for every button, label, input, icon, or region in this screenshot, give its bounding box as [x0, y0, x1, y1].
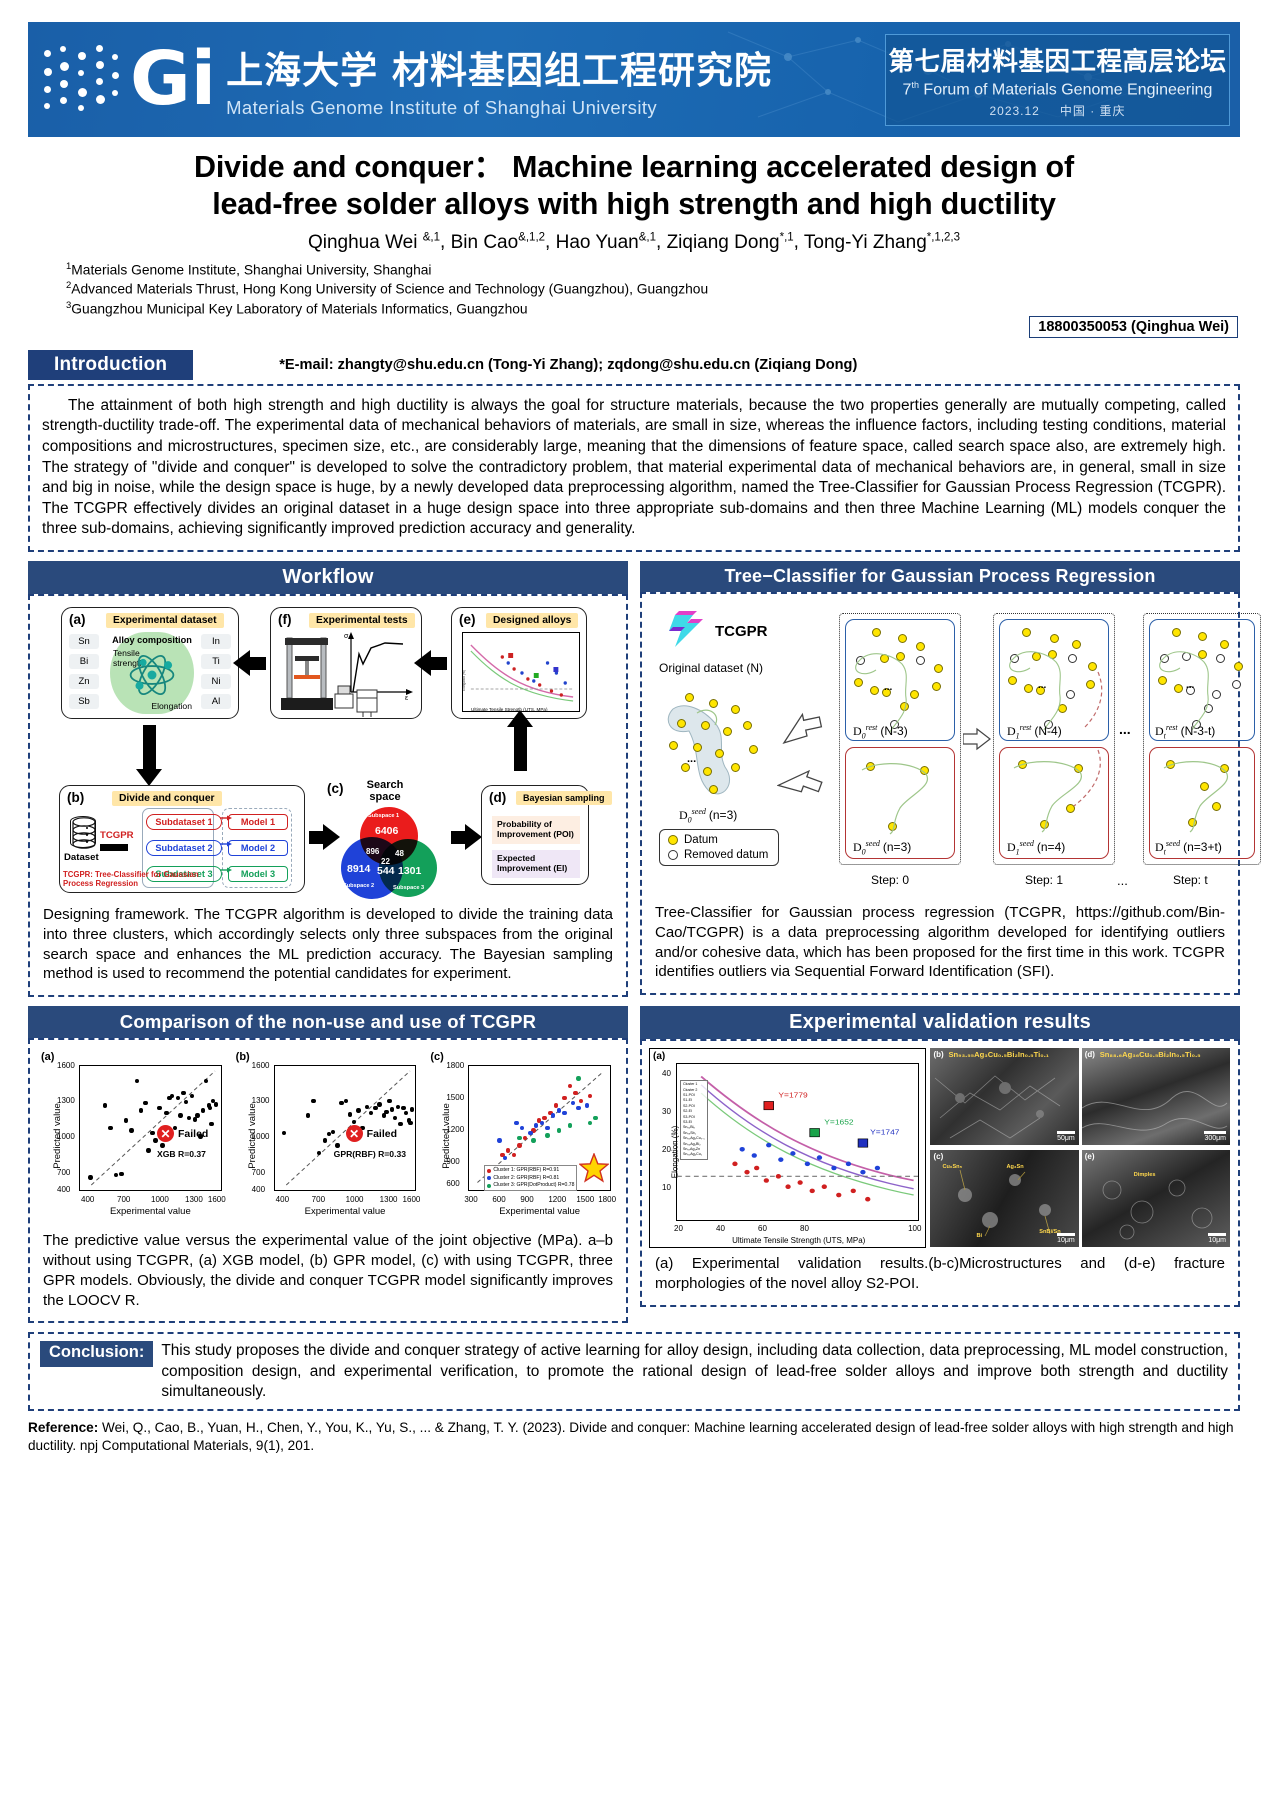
cloud-ellipsis: ... — [687, 753, 696, 765]
element-chip: Zn — [69, 674, 99, 689]
ellipsis: ... — [884, 682, 892, 693]
chart-b-xtick-3: 1300 — [380, 1195, 398, 1204]
chart-c-legend-0: Cluster 1: GPR(RBF) R=0.91 — [493, 1167, 559, 1174]
validation-a-xtick-0: 20 — [674, 1224, 683, 1233]
chart-c-ytick-1: 600 — [446, 1179, 459, 1188]
author-2: Hao Yuan&,1 — [556, 232, 656, 253]
step0-seed-label: D0seed (n=3) — [853, 839, 911, 856]
arrow-dataset-to-subdatasets — [100, 844, 128, 851]
subdataset-2: Subdataset 2 — [146, 840, 222, 856]
sem-e-scalebar: 10μm — [1208, 1233, 1226, 1244]
poster-root: Gi 上海大学 材料基因组工程研究院 Materials Genome Inst… — [0, 22, 1268, 1815]
sem-c-scalebar: 10μm — [1057, 1233, 1075, 1244]
reference-text: Wei, Q., Cao, B., Yuan, H., Chen, Y., Yo… — [28, 1420, 1234, 1453]
tcgpr-footnote: TCGPR: Tree-Classifier for Gaussian Proc… — [63, 871, 213, 889]
validation-a-legend: Cluster 1 Cluster 2 S1-POI S1-EI S2-POI … — [680, 1080, 708, 1159]
validation-a-ytick-2: 30 — [662, 1107, 671, 1116]
chart-c-xtick-2: 900 — [520, 1195, 533, 1204]
introduction-header-row: Introduction *E-mail: zhangty@shu.edu.cn… — [28, 350, 1240, 380]
f-xaxis-label: ε — [405, 695, 408, 700]
chart-a-status: Failed — [178, 1128, 208, 1140]
panel-f-tag: (f) — [278, 612, 292, 627]
section-bar-validation: Experimental validation results — [640, 1006, 1240, 1039]
tcgpr-logo-icon — [665, 609, 709, 653]
chart-c-ytick-top: 1800 — [446, 1061, 464, 1070]
phone-box: 18800350053 (Qinghua Wei) — [1029, 316, 1238, 338]
chart-a-xtick-2: 1000 — [151, 1195, 169, 1204]
chart-b: (b) 1600 1300 1000 700 400 Predicted val… — [234, 1051, 423, 1221]
element-chip: Al — [201, 694, 231, 709]
section-bar-comparison: Comparison of the non-use and use of TCG… — [28, 1006, 628, 1038]
panel-a-title: Experimental dataset — [106, 613, 224, 628]
stept-rest-label: Dtrest (N-3-t) — [1155, 723, 1215, 740]
tcgpr-figure-box: TCGPR Original dataset (N) — [640, 592, 1240, 995]
panel-c-tag: (c) — [327, 781, 344, 796]
venn-value-0: 6406 — [375, 825, 398, 837]
step1-seed-label: D1seed (n=4) — [1007, 839, 1065, 856]
chart-b-ytick-top: 1600 — [252, 1061, 270, 1070]
dataset-cylinder-icon — [70, 816, 96, 848]
legend-datum-label: Datum — [684, 834, 718, 846]
panel-f-title: Experimental tests — [309, 613, 415, 628]
chart-a-ytick-0: 400 — [57, 1185, 70, 1194]
validation-sem-grid: (b) Sn₉₃.₅₅Ag₃Cu₀.₅Bi₂In₀.₅Ti₀.₁ 5 — [930, 1048, 1231, 1248]
logo-dot-matrix — [42, 44, 128, 116]
step0-label: Step: 0 — [871, 873, 909, 887]
conclusion-text: This study proposes the divide and conqu… — [161, 1341, 1228, 1402]
chart-a-ylabel: Predicted value — [52, 1104, 63, 1169]
chart-c-ylabel: Predicted value — [442, 1104, 453, 1169]
chart-b-annotation: GPR(RBF) R=0.33 — [334, 1149, 406, 1159]
venn-label-0: Subspace 1 — [368, 813, 399, 819]
stept-seed-label: Dtseed (n=3+t) — [1155, 839, 1222, 856]
author-list: Qinghua Wei &,1, Bin Cao&,1,2, Hao Yuan&… — [28, 231, 1240, 253]
introduction-panel: The attainment of both high strength and… — [28, 384, 1240, 552]
arrow-d-to-e — [514, 727, 527, 771]
chart-c: (c) 1800 1500 1200 900 600 Predicted val… — [428, 1051, 617, 1221]
workflow-caption: Designing framework. The TCGPR algorithm… — [37, 899, 619, 988]
comparison-column: Comparison of the non-use and use of TCG… — [28, 1006, 628, 1323]
chart-c-ytick-4: 1500 — [446, 1093, 464, 1102]
author-3: Ziqiang Dong*,1 — [667, 232, 794, 253]
section-tag-introduction: Introduction — [28, 350, 193, 380]
author-0: Qinghua Wei &,1 — [308, 232, 440, 253]
element-chip: Sb — [69, 694, 99, 709]
chart-c-legend-2: Cluster 3: GPR(DotProduct) R=0.78 — [493, 1182, 574, 1189]
chart-b-ytick-1: 700 — [252, 1168, 265, 1177]
alloy-blob: Alloy composition Tensile strength Elong… — [110, 632, 194, 714]
conclusion-panel: Conclusion: This study proposes the divi… — [28, 1332, 1240, 1411]
arrow-f-to-a — [250, 657, 266, 670]
element-chip: Bi — [69, 654, 99, 669]
tcgpr-diagram: TCGPR Original dataset (N) — [649, 601, 1231, 897]
chart-a: (a) 1600 1300 1000 700 400 Predicted val… — [39, 1051, 228, 1221]
original-dataset-label: Original dataset (N) — [659, 661, 763, 675]
arrow-b-to-c — [309, 831, 323, 844]
legend-dot-cluster3 — [487, 1184, 491, 1188]
validation-anno-2: Y=1747 — [870, 1129, 899, 1137]
step0-rest-label: D0rest (N-3) — [853, 723, 908, 740]
chart-c-tag: (c) — [430, 1051, 443, 1063]
sem-panel-c: (c) Cu₆Sn₅ Ag₃Sn Bi SnBi/Sn 10 — [930, 1150, 1078, 1247]
chart-a-tag: (a) — [41, 1051, 54, 1063]
chart-c-xtick-3: 1200 — [548, 1195, 566, 1204]
validation-a-ytick-3: 40 — [662, 1069, 671, 1078]
workflow-panel-a: (a) Experimental dataset Sn Bi Zn Sb In … — [61, 607, 239, 719]
tcgpr-column: Tree−Classifier for Gaussian Process Reg… — [640, 561, 1240, 997]
chart-a-xtick-3: 1300 — [185, 1195, 203, 1204]
element-chip: In — [201, 634, 231, 649]
chart-c-xtick-5: 1800 — [598, 1195, 616, 1204]
chart-b-xlabel: Experimental value — [274, 1206, 417, 1217]
f-yaxis-label: σ — [344, 633, 349, 640]
arrow-step0-step1 — [963, 727, 991, 751]
venn-value-2: 1301 — [398, 865, 421, 877]
forum-meta: 2023.12中国 · 重庆 — [979, 102, 1135, 119]
sem-b-scalebar: 50μm — [1057, 1131, 1075, 1142]
legend-item: Sn₉₅Ag₃Cu₀.₅ — [683, 1136, 705, 1141]
panel-c-title: Search space — [355, 779, 415, 803]
validation-a-ytick-0: 10 — [662, 1183, 671, 1192]
venn-value-4: 48 — [395, 849, 404, 858]
author-1: Bin Cao&,1,2 — [451, 232, 545, 253]
logo-mark: Gi — [128, 46, 220, 113]
sem-e-marker-0: Dimples — [1134, 1172, 1156, 1178]
workflow-column: Workflow (a) Experimental dataset Sn Bi … — [28, 561, 628, 997]
chart-a-xtick-1: 700 — [117, 1195, 130, 1204]
poster-title: Divide and conquer： Machine learning acc… — [28, 149, 1240, 223]
legend-dot-cluster2 — [487, 1176, 491, 1180]
workflow-panel-d: (d) Bayesian sampling Probability of Imp… — [481, 785, 589, 885]
tcgpr-caption: Tree-Classifier for Gaussian process reg… — [649, 897, 1231, 986]
legend-item: Sn₉₅Ag₄Cu₁ — [683, 1152, 705, 1157]
model-2: Model 2 — [228, 840, 288, 856]
venn-value-6: 544 — [377, 865, 395, 877]
chart-b-ylabel: Predicted value — [247, 1104, 258, 1169]
panel-e-tag: (e) — [459, 612, 476, 627]
chart-a-failed-badge: ✕ Failed — [157, 1125, 208, 1142]
conclusion-tag: Conclusion: — [40, 1341, 153, 1367]
original-dataset-cloud: ... — [657, 679, 787, 809]
validation-figure-box: (a) Elongation (%) — [640, 1039, 1240, 1307]
comparison-charts: (a) 1600 1300 1000 700 400 Predicted val… — [37, 1047, 619, 1225]
element-chip: Sn — [69, 634, 99, 649]
comparison-figure-box: (a) 1600 1300 1000 700 400 Predicted val… — [28, 1038, 628, 1323]
lab-equipment-icon — [333, 684, 381, 718]
step1-label: Step: 1 — [1025, 873, 1063, 887]
email-line: *E-mail: zhangty@shu.edu.cn (Tong-Yi Zha… — [279, 357, 857, 373]
element-chip: Ti — [201, 654, 231, 669]
validation-chart-a: (a) Elongation (%) — [649, 1048, 926, 1248]
venn-label-1: Subspace 2 — [343, 883, 374, 889]
blob-label-right: Elongation — [151, 701, 192, 711]
validation-a-xlabel: Ultimate Tensile Strength (UTS, MPa) — [676, 1236, 921, 1245]
x-icon: ✕ — [157, 1125, 174, 1142]
validation-caption: (a) Experimental validation results.(b-c… — [649, 1248, 1231, 1298]
chart-c-xtick-4: 1500 — [576, 1195, 594, 1204]
title-line-1: Divide and conquer： Machine learning acc… — [28, 149, 1240, 186]
chart-b-xtick-1: 700 — [312, 1195, 325, 1204]
panel-e-miniplot: Elongation (%) Ultimate Tensile Strength… — [462, 632, 580, 712]
arrow-a-to-b — [143, 725, 156, 769]
affiliation-1: 1Materials Genome Institute, Shanghai Un… — [66, 260, 1240, 280]
panel-b-title: Divide and conquer — [112, 791, 222, 806]
ellipsis: ... — [1038, 680, 1046, 691]
comparison-caption: The predictive value versus the experime… — [37, 1225, 619, 1314]
tcgpr-legend: Datum Removed datum — [659, 829, 779, 866]
venn-diagram: 6406 8914 1301 896 48 22 544 Subspace 1 … — [341, 807, 437, 899]
chart-c-legend-1: Cluster 2: GPR(RBF) R=0.81 — [493, 1175, 559, 1182]
chart-b-xtick-2: 1000 — [346, 1195, 364, 1204]
contact-row: 18800350053 (Qinghua Wei) — [28, 320, 1240, 346]
panel-d-tag: (d) — [489, 790, 506, 805]
chart-c-xtick-0: 300 — [464, 1195, 477, 1204]
seed-init-label: D0seed (n=3) — [679, 807, 737, 824]
subdataset-model-arrows — [220, 810, 232, 886]
affiliation-2: 2Advanced Materials Thrust, Hong Kong Un… — [66, 279, 1240, 299]
bayesian-item-ei: Expected Improvement (EI) — [492, 850, 580, 878]
chart-c-xlabel: Experimental value — [468, 1206, 611, 1217]
arrow-e-to-f — [431, 657, 447, 670]
legend-datum-icon — [668, 835, 678, 845]
header-banner: Gi 上海大学 材料基因组工程研究院 Materials Genome Inst… — [28, 22, 1240, 137]
panel-e-title: Designed alloys — [486, 613, 578, 628]
chart-a-ytick-top: 1600 — [57, 1061, 75, 1070]
chart-b-xtick-4: 1600 — [403, 1195, 421, 1204]
chart-b-xtick-0: 400 — [276, 1195, 289, 1204]
chart-c-legend: Cluster 1: GPR(RBF) R=0.91 Cluster 2: GP… — [484, 1165, 577, 1191]
steps-ellipsis-bottom: ... — [1117, 873, 1128, 888]
tcgpr-logo-label: TCGPR — [715, 623, 768, 640]
reference-label: Reference: — [28, 1420, 98, 1435]
dataset-label: Dataset — [64, 852, 99, 863]
step1-rest-label: D1rest (N-4) — [1007, 723, 1062, 740]
atom-icon — [125, 650, 179, 700]
sem-c-marker-1: Ag₃Sn — [1006, 1164, 1023, 1170]
subdataset-1: Subdataset 1 — [146, 814, 222, 830]
forum-title-en: 7th Forum of Materials Genome Engineerin… — [903, 80, 1213, 99]
tensile-machine-icon — [279, 634, 341, 714]
validation-a-xtick-2: 60 — [758, 1224, 767, 1233]
element-chip: Ni — [201, 674, 231, 689]
venn-value-1: 8914 — [347, 863, 370, 875]
main-columns-top: Workflow (a) Experimental dataset Sn Bi … — [28, 561, 1240, 997]
legend-removed-label: Removed datum — [684, 849, 768, 861]
forum-badge: 第七届材料基因工程高层论坛 7th Forum of Materials Gen… — [885, 34, 1230, 126]
validation-a-xtick-4: 100 — [908, 1224, 921, 1233]
workflow-panel-e: (e) Designed alloys — [451, 607, 587, 719]
sem-panel-e: (e) Dimples 10μm — [1082, 1150, 1230, 1247]
chart-b-ytick-0: 400 — [252, 1185, 265, 1194]
sem-c-marker-0: Cu₆Sn₅ — [942, 1164, 962, 1170]
affiliation-list: 1Materials Genome Institute, Shanghai Un… — [66, 260, 1240, 319]
arrow-c-to-d — [451, 831, 465, 844]
model-1: Model 1 — [228, 814, 288, 830]
x-icon: ✕ — [346, 1125, 363, 1142]
sem-c-marker-2: Bi — [976, 1233, 982, 1239]
split-arrows — [777, 697, 833, 817]
panel-b-tag: (b) — [67, 790, 84, 805]
chart-a-xtick-4: 1600 — [208, 1195, 226, 1204]
legend-removed-icon — [668, 850, 678, 860]
validation-anno-1: Y=1652 — [824, 1118, 853, 1126]
validation-a-xtick-3: 80 — [800, 1224, 809, 1233]
chart-c-xtick-1: 600 — [492, 1195, 505, 1204]
model-3: Model 3 — [228, 866, 288, 882]
workflow-figure-box: (a) Experimental dataset Sn Bi Zn Sb In … — [28, 594, 628, 997]
main-columns-bottom: Comparison of the non-use and use of TCG… — [28, 1006, 1240, 1323]
introduction-text: The attainment of both high strength and… — [30, 386, 1238, 550]
bayesian-item-poi: Probability of Improvement (POI) — [492, 816, 580, 844]
venn-value-3: 896 — [366, 847, 379, 856]
validation-a-tag: (a) — [653, 1051, 665, 1062]
validation-a-ytick-1: 20 — [662, 1145, 671, 1154]
legend-dot-cluster1 — [487, 1169, 491, 1173]
workflow-panel-f: (f) Experimental tests — [270, 607, 422, 719]
sem-panel-d: (d) Sn₈₈.₆Ag₃₆Cu₀.₅Bi₂In₀.₅Ti₀.₅ 300μm — [1082, 1048, 1230, 1145]
chart-b-tag: (b) — [236, 1051, 250, 1063]
author-4: Tong-Yi Zhang*,1,2,3 — [804, 232, 960, 253]
workflow-diagram: (a) Experimental dataset Sn Bi Zn Sb In … — [37, 603, 619, 899]
section-bar-workflow: Workflow — [28, 561, 628, 594]
venn-label-2: Subspace 3 — [393, 885, 424, 891]
panel-a-tag: (a) — [69, 612, 86, 627]
chart-a-xtick-0: 400 — [81, 1195, 94, 1204]
blob-title: Alloy composition — [110, 635, 194, 645]
section-bar-tcgpr: Tree−Classifier for Gaussian Process Reg… — [640, 561, 1240, 592]
chart-a-annotation: XGB R=0.37 — [157, 1149, 206, 1159]
sem-panel-b: (b) Sn₉₃.₅₅Ag₃Cu₀.₅Bi₂In₀.₅Ti₀.₁ 5 — [930, 1048, 1078, 1145]
ellipsis: ... — [1186, 680, 1194, 691]
stept-label: Step: t — [1173, 873, 1208, 887]
chart-a-xlabel: Experimental value — [79, 1206, 222, 1217]
validation-a-xtick-1: 40 — [716, 1224, 725, 1233]
star-marker-icon — [579, 1153, 609, 1183]
chart-b-status: Failed — [367, 1128, 397, 1140]
workflow-panel-c: (c) Search space 6406 8914 1301 896 48 2… — [327, 779, 447, 891]
panel-d-title: Bayesian sampling — [516, 791, 612, 805]
sem-d-scalebar: 300μm — [1204, 1131, 1226, 1142]
e-ylabel: Elongation (%) — [463, 670, 466, 691]
validation-figure: (a) Elongation (%) — [649, 1048, 1231, 1248]
steps-ellipsis: ... — [1119, 721, 1131, 737]
validation-column: Experimental validation results (a) Elon… — [640, 1006, 1240, 1323]
forum-title-cn: 第七届材料基因工程高层论坛 — [888, 41, 1226, 78]
reference-block: Reference: Wei, Q., Cao, B., Yuan, H., C… — [28, 1419, 1240, 1454]
title-line-2: lead-free solder alloys with high streng… — [28, 186, 1240, 223]
validation-anno-0: Y=1779 — [778, 1091, 807, 1099]
chart-a-ytick-1: 700 — [57, 1168, 70, 1177]
tcgpr-label: TCGPR — [100, 830, 134, 841]
chart-b-failed-badge: ✕ Failed — [346, 1125, 397, 1142]
